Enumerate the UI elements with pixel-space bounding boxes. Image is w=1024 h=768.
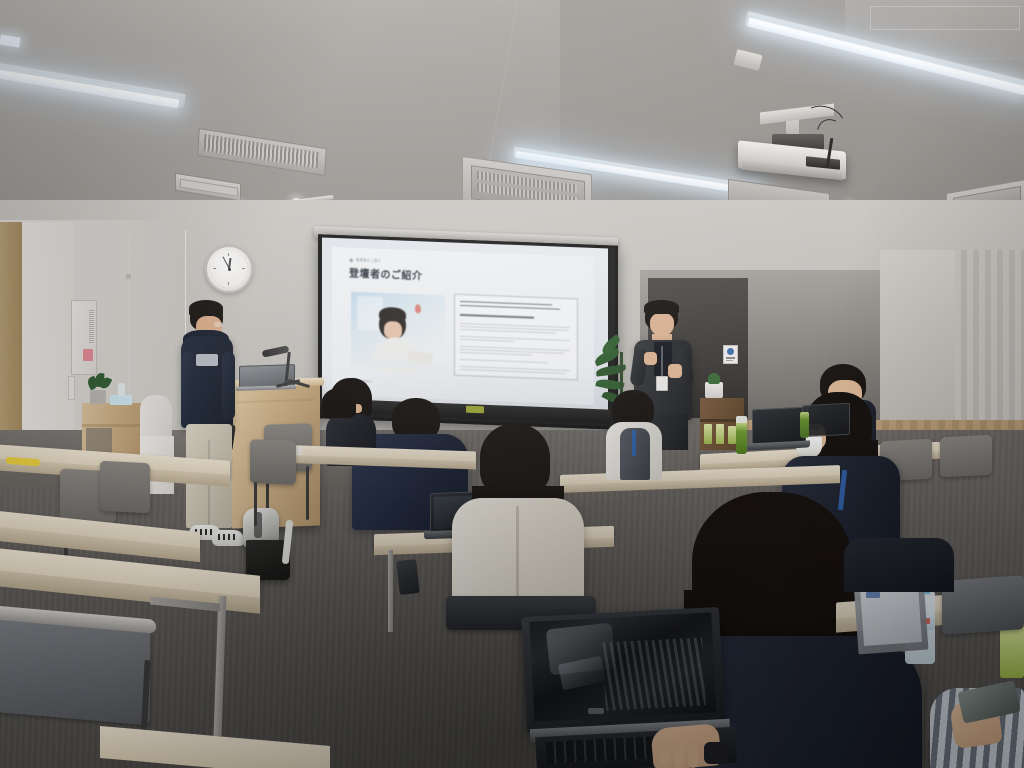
audience-head-silhouette-1	[322, 388, 356, 418]
presenter-jacket-hairline	[644, 300, 679, 314]
seminar-room-photo: 登壇者のご紹介 登壇者のご紹介	[0, 0, 1024, 768]
slide-speaker-name	[460, 314, 534, 318]
presenter-hoodie-arm-left	[181, 352, 193, 422]
finger-3	[688, 744, 698, 768]
shelf-right-pot	[705, 382, 723, 398]
presentation-slide: 登壇者のご紹介 登壇者のご紹介	[332, 247, 594, 405]
presenter-lanyard-cord	[661, 346, 663, 376]
hand-sanitizer	[118, 383, 125, 396]
laptop-far-right-screen[interactable]	[802, 403, 850, 438]
attendee-grey-vest-lanyard	[632, 430, 636, 456]
attendee-bottom-right-shoulder	[844, 538, 954, 592]
slide-company-line-2	[460, 305, 560, 310]
wall-notice-sign	[723, 345, 738, 364]
desk-center-leg	[388, 550, 393, 632]
smartphone-on-desk[interactable]	[396, 559, 419, 595]
finger-2	[674, 742, 684, 768]
wall-mounted-panel	[71, 300, 97, 375]
wall-clock	[205, 245, 253, 293]
shelf-divider	[82, 424, 146, 427]
chair-mid-left-1[interactable]	[250, 439, 296, 485]
laptop-bottom-right-ui	[866, 592, 880, 598]
wall-conduit	[128, 235, 130, 410]
photo-decor	[415, 304, 421, 313]
chair-bottom-right[interactable]	[942, 575, 1024, 635]
slide-title: 登壇者のご紹介	[349, 265, 423, 283]
pink-label	[83, 349, 93, 361]
presenter-hand-left	[644, 352, 657, 365]
shelf-bottle-1	[704, 424, 712, 444]
photo-person-hair	[379, 307, 406, 322]
green-tea-bottle-cap	[736, 416, 747, 423]
slide-speaker-photo	[351, 292, 445, 370]
green-tea-bottle-mid	[736, 422, 747, 454]
slide-text-panel	[454, 294, 578, 381]
clock-center	[228, 268, 231, 271]
wall-switch[interactable]	[68, 376, 75, 400]
shoe-stripes-right	[218, 534, 236, 540]
laptop-screen-reflection-2	[602, 637, 705, 710]
screen-weight-tab	[466, 406, 484, 414]
presenter-hoodie-hairline	[189, 300, 223, 316]
presenter-hoodie-arm-right	[222, 352, 235, 420]
presenter-hand-right	[668, 364, 682, 378]
ceiling-access-panel	[870, 6, 1020, 30]
tissue-box	[110, 395, 132, 405]
shelf-bottle-2	[716, 424, 724, 444]
presenter-jacket-face	[650, 313, 674, 336]
presenter-hoodie-glasses	[214, 322, 222, 327]
chair-back-right-2[interactable]	[940, 435, 992, 478]
plant-pot	[90, 390, 106, 404]
chair-left-2[interactable]	[100, 461, 150, 514]
slide-eyebrow-marker	[349, 258, 353, 262]
presenter-lanyard-badge	[656, 376, 668, 391]
presenter-hoodie-logo	[196, 354, 218, 366]
shelf-bottle-3	[728, 426, 736, 444]
green-tea-bottle-right	[800, 412, 809, 438]
shelf-right-plant	[708, 373, 720, 384]
slide-eyebrow: 登壇者のご紹介	[356, 257, 381, 263]
finger-1	[660, 740, 670, 766]
green-tea-bottle-bottom-right	[1000, 624, 1024, 678]
laptop-hp-logo	[588, 708, 604, 714]
chair-leg-2	[306, 466, 309, 520]
chair-mid-left-leg	[254, 482, 257, 526]
wristwatch	[704, 742, 728, 764]
conduit-bracket	[126, 274, 131, 279]
